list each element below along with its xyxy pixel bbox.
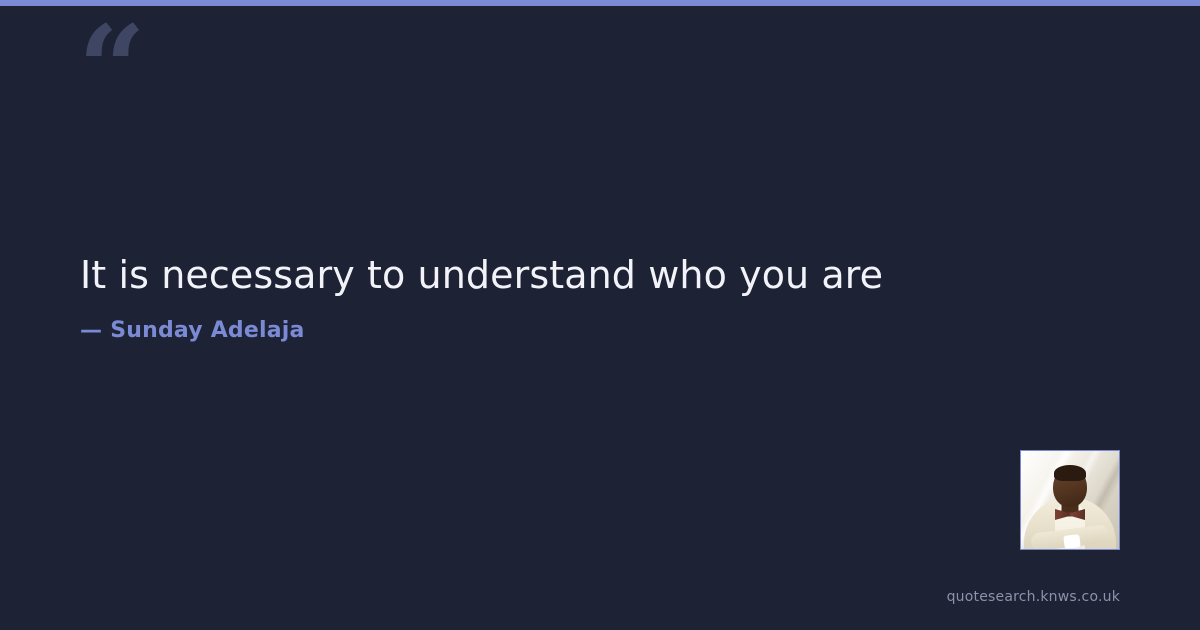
quote-author: Sunday Adelaja bbox=[110, 318, 304, 343]
quote-attribution: —Sunday Adelaja bbox=[80, 318, 1080, 343]
opening-quote-icon: “ bbox=[78, 10, 144, 128]
source-url: quotesearch.knws.co.uk bbox=[947, 589, 1120, 605]
portrait-head bbox=[1053, 467, 1087, 507]
attribution-dash: — bbox=[80, 318, 102, 343]
quote-block: It is necessary to understand who you ar… bbox=[80, 252, 1080, 343]
quote-text: It is necessary to understand who you ar… bbox=[80, 252, 1080, 298]
quote-card: “ It is necessary to understand who you … bbox=[0, 0, 1200, 630]
author-portrait bbox=[1020, 450, 1120, 550]
top-accent-bar bbox=[0, 0, 1200, 6]
portrait-cuff bbox=[1063, 534, 1080, 549]
